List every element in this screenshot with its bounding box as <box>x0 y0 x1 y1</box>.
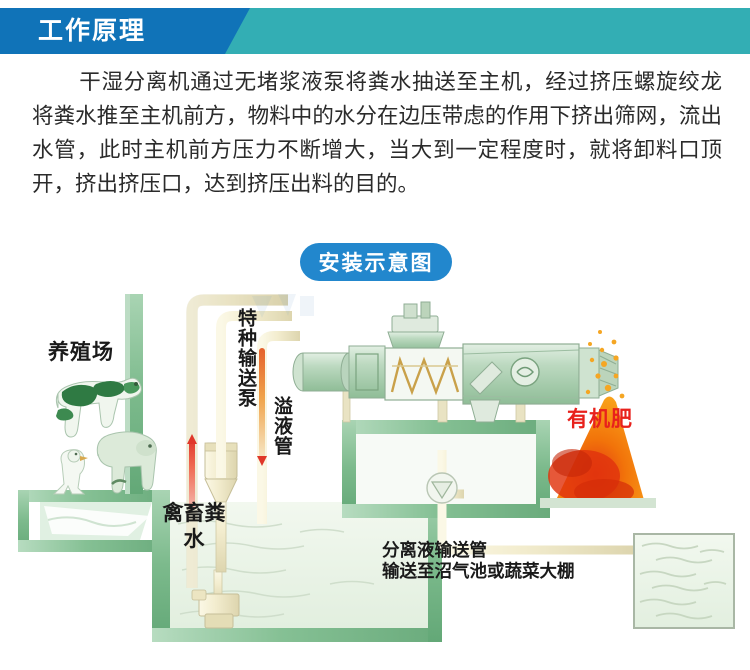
label-manure-water: 禽畜粪水 <box>162 500 226 552</box>
banner-teal-block <box>225 8 750 54</box>
label-special-transfer-pump: 特种输送泵 <box>236 308 256 408</box>
page-root: 工作原理 干湿分离机通过无堵浆液泵将粪水抽送至主机，经过挤压螺旋绞龙将粪水推至主… <box>0 0 750 670</box>
header-banner: 工作原理 <box>0 8 750 54</box>
label-farm: 养殖场 <box>48 336 114 366</box>
principle-paragraph: 干湿分离机通过无堵浆液泵将粪水抽送至主机，经过挤压螺旋绞龙将粪水推至主机前方，物… <box>32 66 722 202</box>
animal-chicken <box>54 450 88 494</box>
farm-floor-group <box>18 490 170 552</box>
label-separated-liquid-pipe: 分离液输送管 输送至沼气池或蔬菜大棚 <box>382 541 575 583</box>
label-separated-liquid-line2: 输送至沼气池或蔬菜大棚 <box>382 562 575 583</box>
label-overflow-pipe: 溢液管 <box>272 396 292 456</box>
page-title: 工作原理 <box>38 17 146 45</box>
effluent-tank <box>634 534 734 628</box>
label-separated-liquid-line1: 分离液输送管 <box>382 541 575 562</box>
label-organic-fertilizer: 有机肥 <box>567 403 633 433</box>
installation-diagram-badge: 安装示意图 <box>300 243 452 281</box>
